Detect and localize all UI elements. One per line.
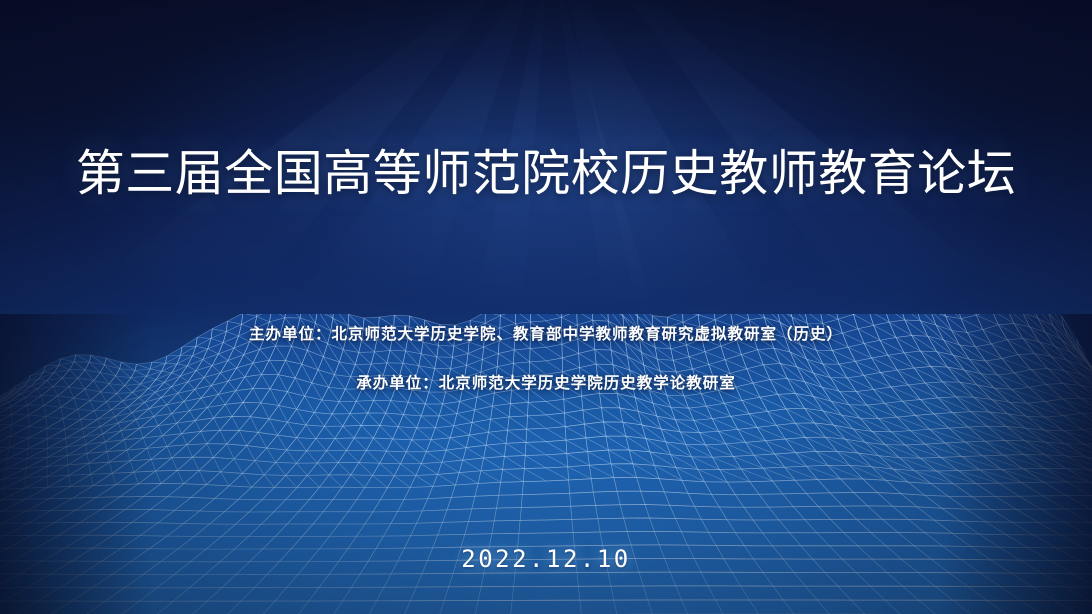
background-vignette — [0, 0, 1092, 614]
event-date: 2022.12.10 — [0, 545, 1092, 573]
co-organizer-line: 承办单位：北京师范大学历史学院历史教学论教研室 — [0, 371, 1092, 393]
organizer-line: 主办单位：北京师范大学历史学院、教育部中学教师教育研究虚拟教研室（历史） — [0, 322, 1092, 344]
page-title: 第三届全国高等师范院校历史教师教育论坛 — [0, 149, 1092, 201]
presentation-title-slide: 第三届全国高等师范院校历史教师教育论坛 主办单位：北京师范大学历史学院、教育部中… — [0, 0, 1092, 614]
